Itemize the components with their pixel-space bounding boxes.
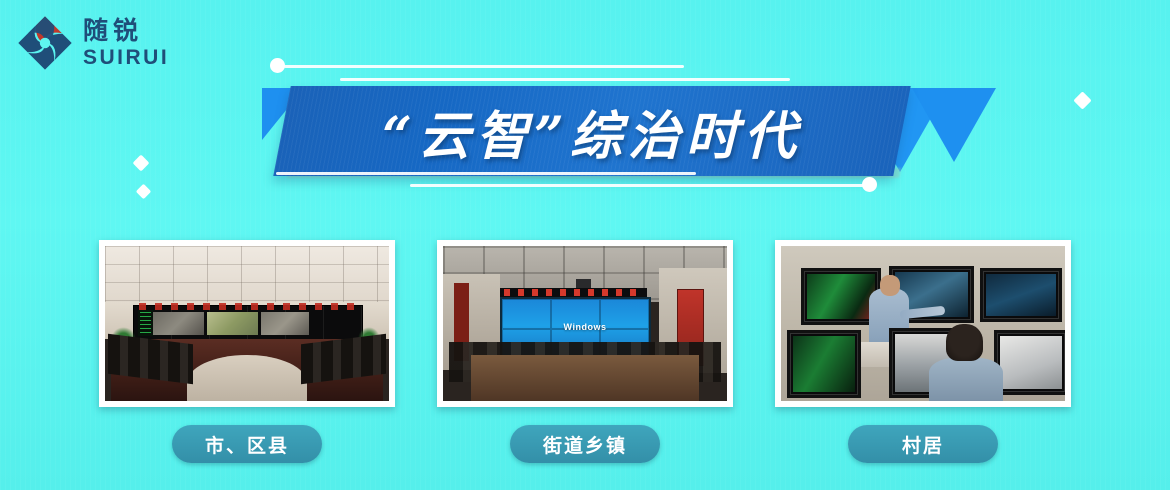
card-label-street-township[interactable]: 街道乡镇 bbox=[510, 425, 660, 463]
photo-city-district bbox=[105, 246, 389, 401]
photo-street-township: Windows bbox=[443, 246, 727, 401]
brand-logo[interactable]: 随锐 SUIRUI bbox=[16, 14, 169, 72]
card-street-township[interactable]: Windows 街道乡镇 bbox=[436, 240, 734, 463]
card-row: 市、区县 Windows bbox=[0, 240, 1170, 463]
photo-frame bbox=[99, 240, 395, 407]
photo-village bbox=[781, 246, 1065, 401]
brand-name-en: SUIRUI bbox=[83, 47, 169, 68]
triangle-right-2 bbox=[912, 88, 996, 162]
deco-line-top-1 bbox=[284, 65, 684, 68]
card-label-city-district[interactable]: 市、区县 bbox=[172, 425, 322, 463]
slide-root: 随锐 SUIRUI “云智”综治时代 bbox=[0, 0, 1170, 490]
brand-name-cn: 随锐 bbox=[83, 19, 169, 44]
banner-plate bbox=[273, 86, 910, 176]
left-diamond-lower bbox=[136, 184, 152, 200]
suirui-pinwheel-logo-icon bbox=[16, 14, 74, 72]
deco-line-top-2 bbox=[340, 78, 790, 81]
deco-line-bottom-2 bbox=[410, 184, 870, 187]
card-city-district[interactable]: 市、区县 bbox=[98, 240, 396, 463]
photo-frame bbox=[775, 240, 1071, 407]
card-village[interactable]: 村居 bbox=[774, 240, 1072, 463]
brand-wordmark: 随锐 SUIRUI bbox=[83, 19, 169, 68]
bottom-right-dot-icon bbox=[862, 177, 877, 192]
photo-frame: Windows bbox=[437, 240, 733, 407]
title-banner: “云智”综治时代 bbox=[262, 56, 952, 196]
top-left-dot-icon bbox=[270, 58, 285, 73]
right-diamond bbox=[1073, 91, 1091, 109]
card-label-village[interactable]: 村居 bbox=[848, 425, 998, 463]
left-diamond-upper bbox=[133, 155, 150, 172]
deco-line-bottom-1 bbox=[276, 172, 696, 175]
